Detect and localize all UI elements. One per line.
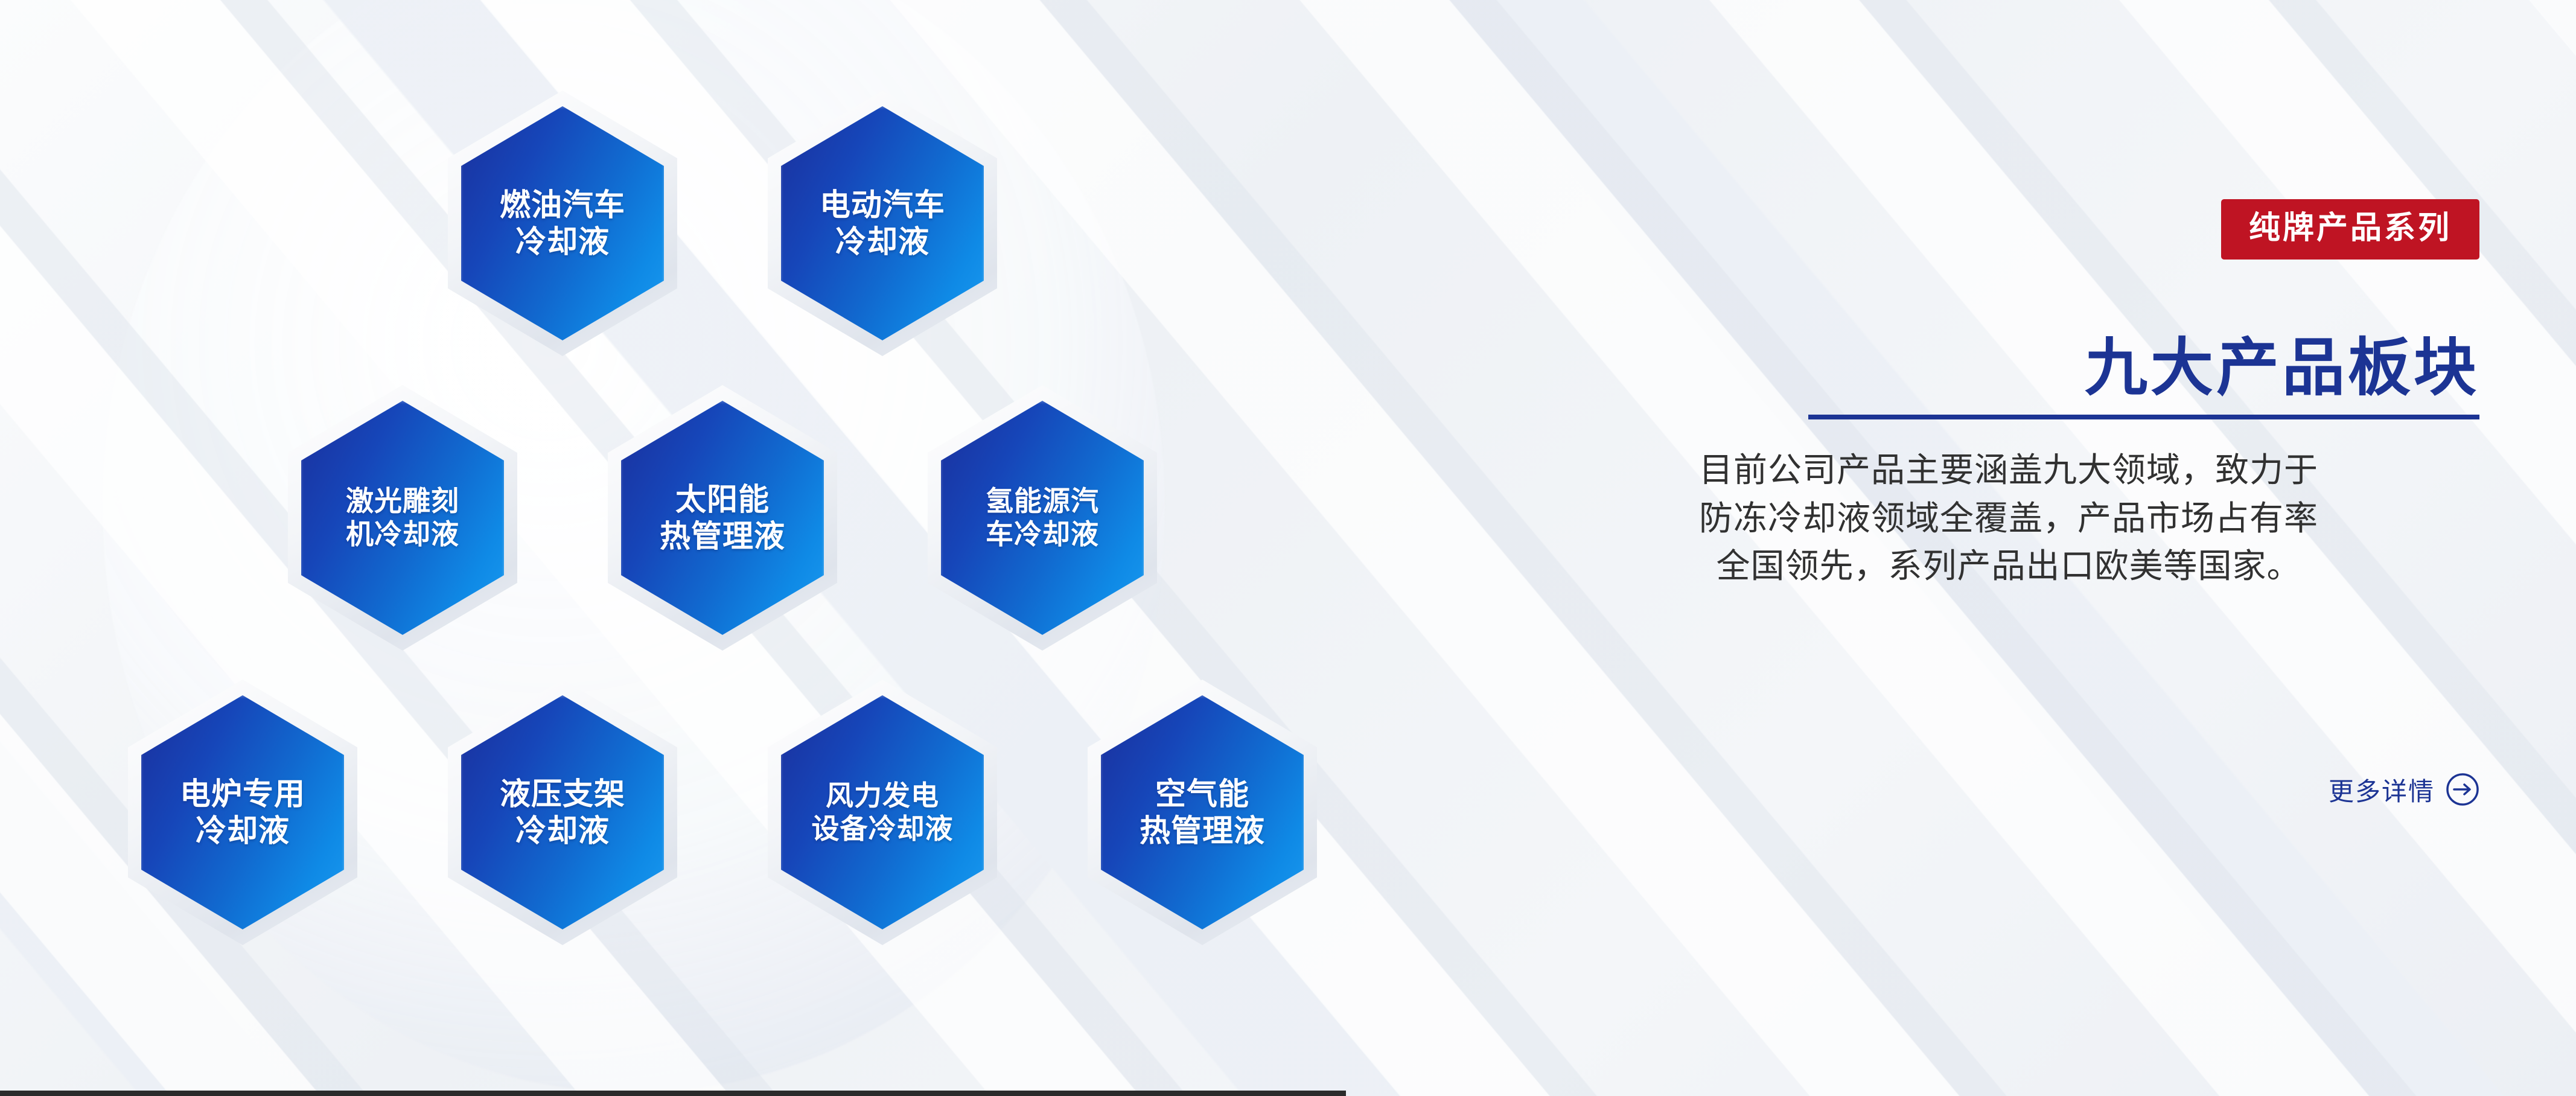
hex-tile-label: 液压支架 冷却液 — [461, 695, 664, 929]
hex-label-line2: 冷却液 — [515, 223, 610, 260]
hex-tile-air-source-thermal-fluid[interactable]: 空气能 热管理液 — [1088, 680, 1317, 945]
hex-tile-fuel-vehicle-coolant[interactable]: 燃油汽车 冷却液 — [448, 91, 677, 356]
series-badge: 纯牌产品系列 — [2221, 199, 2479, 260]
product-info-panel: 纯牌产品系列 九大产品板块 目前公司产品主要涵盖九大领域，致力于 防冻冷却液领域… — [1538, 199, 2479, 808]
hex-tile-label: 风力发电 设备冷却液 — [781, 695, 984, 929]
hex-label-line1: 氢能源汽 — [986, 485, 1099, 518]
hex-tile-hydraulic-support-coolant[interactable]: 液压支架 冷却液 — [448, 680, 677, 945]
hex-tile-label: 氢能源汽 车冷却液 — [941, 401, 1144, 635]
hex-label-line1: 液压支架 — [500, 776, 625, 812]
hex-tile-label: 激光雕刻 机冷却液 — [301, 401, 504, 635]
page-title: 九大产品板块 — [1538, 336, 2479, 401]
title-underline — [1808, 415, 2479, 419]
hex-label-line1: 燃油汽车 — [500, 186, 625, 223]
more-details-link[interactable]: 更多详情 — [1538, 771, 2479, 808]
hex-tile-label: 电动汽车 冷却液 — [781, 106, 984, 340]
hex-label-line1: 电动汽车 — [820, 186, 945, 223]
panel-description: 目前公司产品主要涵盖九大领域，致力于 防冻冷却液领域全覆盖，产品市场占有率 全国… — [1538, 446, 2479, 590]
hex-label-line1: 太阳能 — [675, 481, 770, 518]
hex-label-line2: 设备冷却液 — [812, 812, 954, 846]
hex-label-line1: 电炉专用 — [180, 776, 305, 812]
hex-tile-electric-vehicle-coolant[interactable]: 电动汽车 冷却液 — [768, 91, 997, 356]
hex-label-line2: 车冷却液 — [986, 518, 1099, 551]
hex-label-line2: 热管理液 — [660, 518, 785, 555]
hex-tile-label: 电炉专用 冷却液 — [141, 695, 344, 929]
hex-label-line1: 激光雕刻 — [346, 485, 459, 518]
description-line-1: 目前公司产品主要涵盖九大领域，致力于 — [1538, 446, 2479, 494]
more-details-label: 更多详情 — [2329, 771, 2435, 808]
arrow-right-circle-icon — [2446, 773, 2479, 806]
hex-label-line2: 冷却液 — [835, 223, 929, 260]
hex-tile-laser-engraver-coolant[interactable]: 激光雕刻 机冷却液 — [288, 385, 517, 651]
product-banner: 燃油汽车 冷却液 电动汽车 冷却液 激光雕刻 机冷却液 太阳 — [0, 0, 2576, 1096]
hex-tile-electric-furnace-coolant[interactable]: 电炉专用 冷却液 — [128, 680, 357, 945]
hex-tile-wind-power-equipment-coolant[interactable]: 风力发电 设备冷却液 — [768, 680, 997, 945]
hex-tile-solar-thermal-fluid[interactable]: 太阳能 热管理液 — [608, 385, 837, 651]
hex-label-line2: 热管理液 — [1140, 812, 1265, 849]
product-hexagon-cluster: 燃油汽车 冷却液 电动汽车 冷却液 激光雕刻 机冷却液 太阳 — [0, 0, 1406, 1096]
hex-label-line1: 空气能 — [1155, 776, 1249, 812]
hex-tile-label: 空气能 热管理液 — [1101, 695, 1304, 929]
hex-label-line2: 冷却液 — [515, 812, 610, 849]
description-line-3: 全国领先，系列产品出口欧美等国家。 — [1538, 542, 2479, 590]
hex-tile-label: 太阳能 热管理液 — [621, 401, 824, 635]
hex-label-line2: 机冷却液 — [346, 518, 459, 551]
hex-label-line2: 冷却液 — [196, 812, 290, 849]
hex-tile-hydrogen-vehicle-coolant[interactable]: 氢能源汽 车冷却液 — [928, 385, 1157, 651]
hex-label-line1: 风力发电 — [826, 779, 939, 812]
hex-tile-label: 燃油汽车 冷却液 — [461, 106, 664, 340]
description-line-2: 防冻冷却液领域全覆盖，产品市场占有率 — [1538, 494, 2479, 543]
